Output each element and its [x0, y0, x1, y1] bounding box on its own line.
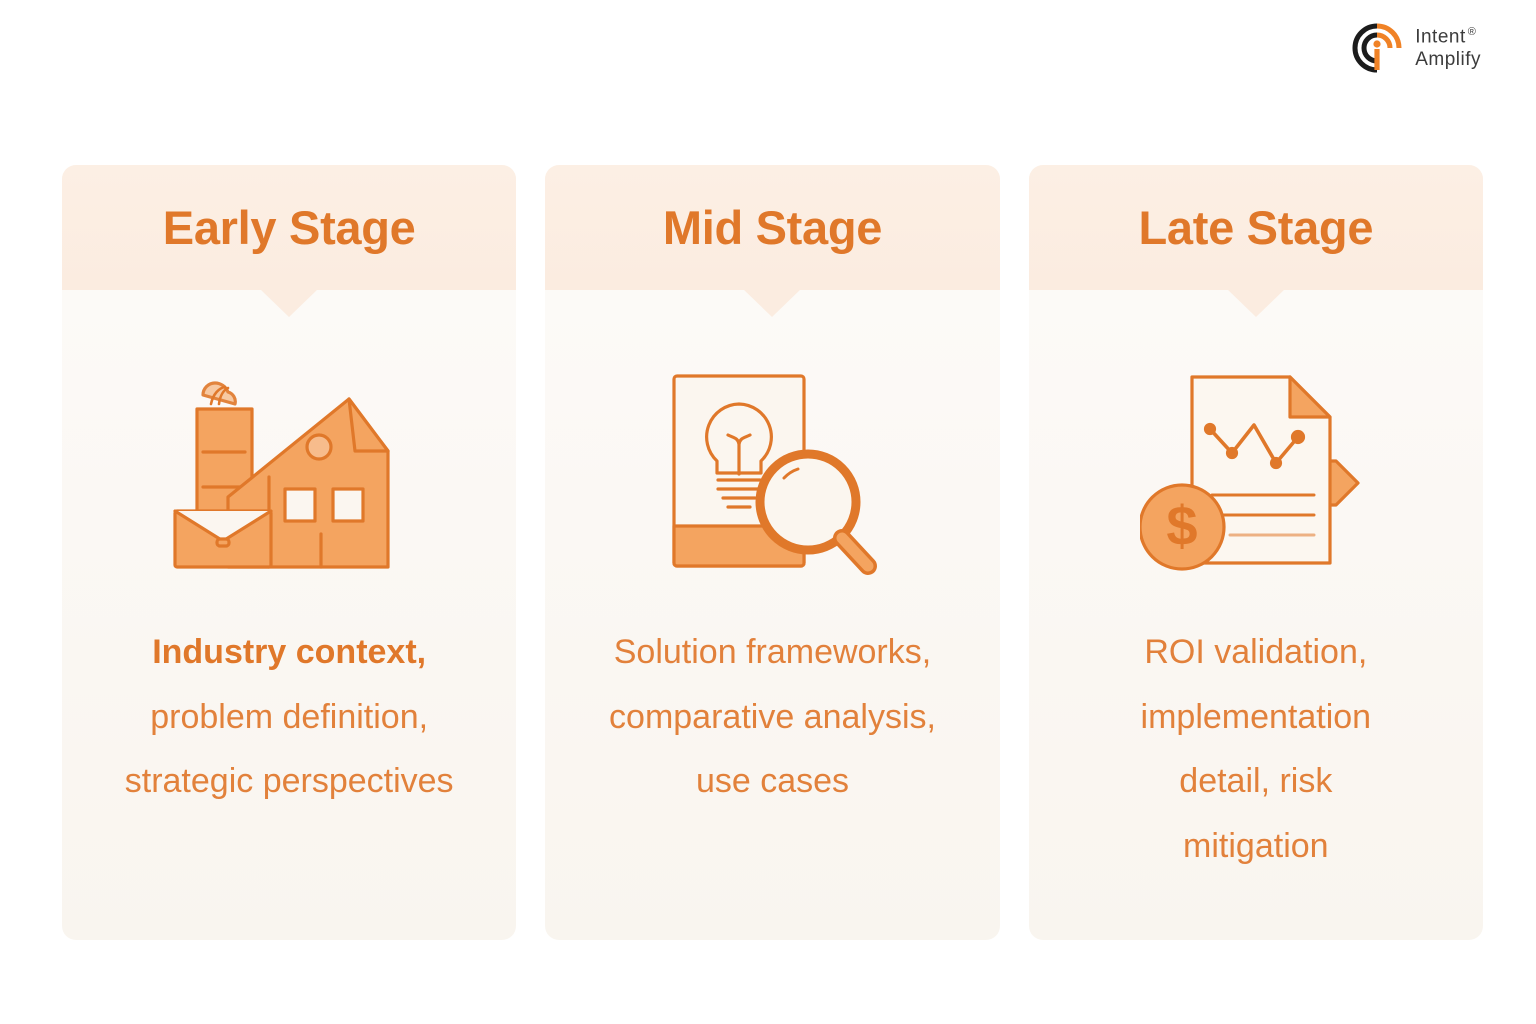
stage-card-early-stage: Early Stage [62, 165, 516, 940]
factory-briefcase-icon [173, 358, 405, 598]
card-body-line: implementation [1141, 685, 1372, 750]
card-body-mid-stage: Solution frameworks, comparative analysi… [583, 620, 962, 814]
card-body-line: problem definition, [125, 685, 454, 750]
card-body-line: strategic perspectives [125, 749, 454, 814]
brand-wordmark: Intent® Amplify [1415, 27, 1481, 68]
card-body-line: Solution frameworks, [609, 620, 936, 685]
svg-text:$: $ [1166, 494, 1197, 557]
card-header-mid-stage: Mid Stage [545, 165, 999, 290]
header-notch-arrow-icon [260, 289, 318, 317]
card-title-early-stage: Early Stage [163, 200, 416, 255]
document-lightbulb-magnifier-icon [656, 358, 888, 598]
card-body-early-stage: Industry context, problem definition, st… [99, 620, 480, 814]
card-header-late-stage: Late Stage [1029, 165, 1483, 290]
card-title-late-stage: Late Stage [1138, 200, 1373, 255]
brand-name-line2: Amplify [1415, 50, 1481, 69]
card-body-late-stage: ROI validation, implementation detail, r… [1115, 620, 1398, 878]
registered-trademark-icon: ® [1468, 26, 1477, 38]
card-body-line: comparative analysis, [609, 685, 936, 750]
header-notch-arrow-icon [743, 289, 801, 317]
brand-logo: Intent® Amplify [1351, 22, 1481, 74]
report-chart-dollar-coin-icon: $ [1140, 358, 1372, 598]
card-body-line: detail, risk [1141, 749, 1372, 814]
card-header-early-stage: Early Stage [62, 165, 516, 290]
header-notch-arrow-icon [1227, 289, 1285, 317]
signal-waves-logo-icon [1351, 22, 1403, 74]
card-body-line: Industry context, [125, 620, 454, 685]
stage-card-mid-stage: Mid Stage [545, 165, 999, 940]
stage-cards-row: Early Stage [62, 165, 1483, 940]
card-title-mid-stage: Mid Stage [663, 200, 882, 255]
card-body-line: use cases [609, 749, 936, 814]
card-body-line: ROI validation, [1141, 620, 1372, 685]
stage-card-late-stage: Late Stage [1029, 165, 1483, 940]
brand-name-line1: Intent [1415, 27, 1466, 48]
card-body-line: mitigation [1141, 814, 1372, 879]
